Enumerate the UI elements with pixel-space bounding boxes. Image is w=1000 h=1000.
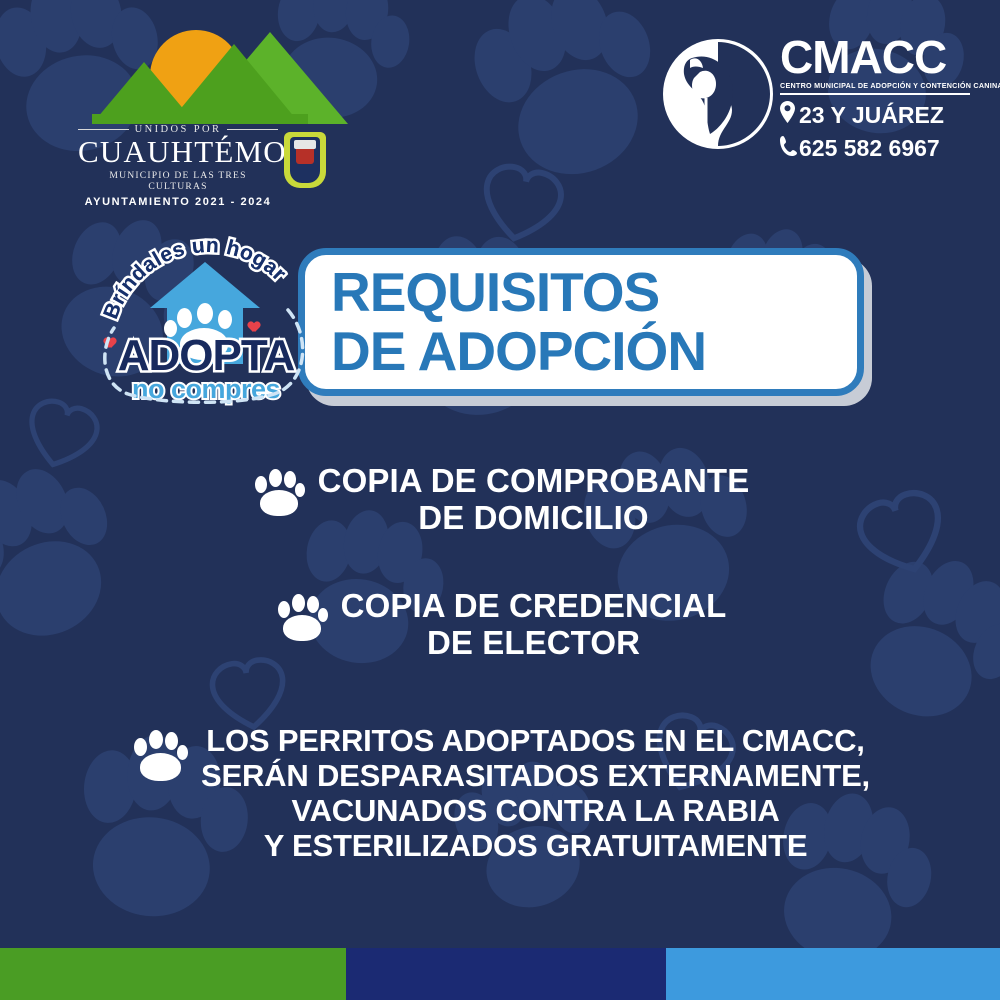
municipal-name: CUAUHTÉMOC [78,136,278,168]
cmacc-phone: 625 582 6967 [799,135,940,162]
adopta-badge: Bríndales un hogar Bríndales un hogar AD… [98,218,313,408]
paw-icon [251,466,305,516]
requirement-item: COPIA DE CREDENCIAL DE ELECTOR [0,587,1000,662]
municipal-logo: UNIDOS POR CUAUHTÉMOC MUNICIPIO DE LAS T… [72,24,332,194]
requirement-line: COPIA DE COMPROBANTE [318,462,750,499]
requirement-item: LOS PERRITOS ADOPTADOS EN EL CMACC, SERÁ… [0,723,1000,863]
requirement-line: SERÁN DESPARASITADOS EXTERNAMENTE, [201,758,870,793]
cmacc-tagline: CENTRO MUNICIPAL DE ADOPCIÓN Y CONTENCIÓ… [780,81,970,95]
rule-left [78,129,129,131]
green-bar [0,948,346,1000]
cmacc-address: 23 Y JUÁREZ [799,102,944,129]
navy-bar [346,948,666,1000]
phone-icon [780,135,797,162]
mountain-base [92,114,308,124]
dog-cat-circle-icon [662,38,774,150]
page-title-line2: DE ADOPCIÓN [331,325,857,379]
municipal-subtitle: MUNICIPIO DE LAS TRES CULTURAS [78,170,278,192]
title-banner: REQUISITOS DE ADOPCIÓN [298,248,864,396]
requirement-line: Y ESTERILIZADOS GRATUITAMENTE [264,828,808,863]
paw-icon [274,591,328,641]
requirement-text: LOS PERRITOS ADOPTADOS EN EL CMACC, SERÁ… [201,723,870,863]
cmacc-name: CMACC [780,34,970,80]
requirement-line: LOS PERRITOS ADOPTADOS EN EL CMACC, [206,723,864,758]
adopta-wordmark: ADOPTA no compres [102,334,310,403]
cmacc-text-block: CMACC CENTRO MUNICIPAL DE ADOPCIÓN Y CON… [780,34,970,161]
adopta-sub-text: no compres [102,376,310,403]
requirement-line: DE ELECTOR [427,624,640,661]
requirement-text: COPIA DE CREDENCIAL DE ELECTOR [341,587,727,662]
paw-icon [130,727,188,781]
requirement-item: COPIA DE COMPROBANTE DE DOMICILIO [0,462,1000,537]
mountain-sun-mark [72,24,332,124]
poster-root: UNIDOS POR CUAUHTÉMOC MUNICIPIO DE LAS T… [0,0,1000,1000]
cmacc-logo: CMACC CENTRO MUNICIPAL DE ADOPCIÓN Y CON… [662,34,972,162]
adopta-main-text: ADOPTA [102,334,310,378]
requirement-line: COPIA DE CREDENCIAL [341,587,727,624]
rule-right [227,129,278,131]
shield-icon [284,132,326,188]
cmacc-address-row: 23 Y JUÁREZ [780,101,970,129]
requirement-line: DE DOMICILIO [418,499,648,536]
requirement-text: COPIA DE COMPROBANTE DE DOMICILIO [318,462,750,537]
cmacc-phone-row: 625 582 6967 [780,135,970,162]
blue-bar [666,948,1000,1000]
mountain-icon [168,44,300,124]
municipal-wordmark: UNIDOS POR CUAUHTÉMOC MUNICIPIO DE LAS T… [78,124,278,208]
municipal-term: AYUNTAMIENTO 2021 - 2024 [78,196,278,208]
location-pin-icon [780,101,797,129]
requirement-line: VACUNADOS CONTRA LA RABIA [291,793,779,828]
requirements-list: COPIA DE COMPROBANTE DE DOMICILIO COPIA … [0,462,1000,869]
footer-color-bars [0,948,1000,1000]
page-title-line1: REQUISITOS [331,266,857,320]
